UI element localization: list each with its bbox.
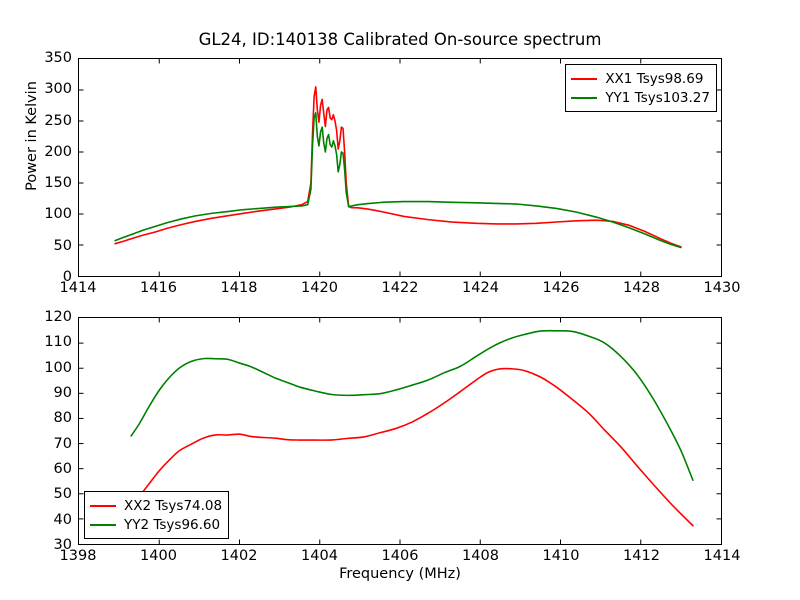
x-tick-label: 1408 bbox=[462, 548, 499, 564]
axis-label-x-bottom: Frequency (MHz) bbox=[0, 566, 800, 582]
legend-item[interactable]: YY1 Tsys103.27 bbox=[571, 88, 710, 107]
x-tick-label: 1402 bbox=[221, 548, 258, 564]
legend-bottom: XX2 Tsys74.08 YY2 Tsys96.60 bbox=[84, 491, 229, 539]
y-tick-label: 350 bbox=[44, 50, 72, 66]
page-title: GL24, ID:140138 Calibrated On-source spe… bbox=[0, 30, 800, 49]
x-tick-label: 1412 bbox=[623, 548, 660, 564]
x-tick-label: 1400 bbox=[140, 548, 177, 564]
x-tick-label: 1406 bbox=[382, 548, 419, 564]
x-tick-label: 1424 bbox=[462, 280, 499, 296]
y-tick-label: 150 bbox=[44, 175, 72, 191]
y-tick-label: 50 bbox=[54, 238, 72, 254]
series-line bbox=[131, 331, 693, 480]
y-tick-label: 300 bbox=[44, 81, 72, 97]
legend-color-swatch-yy2 bbox=[90, 524, 116, 526]
y-tick-labels-top: 050100150200250300350 bbox=[4, 58, 72, 277]
y-tick-label: 120 bbox=[44, 309, 72, 325]
legend-label-xx1: XX1 Tsys98.69 bbox=[605, 71, 703, 87]
legend-color-swatch-xx1 bbox=[571, 78, 597, 80]
y-tick-label: 40 bbox=[54, 512, 72, 528]
y-tick-label: 90 bbox=[54, 385, 72, 401]
matplotlib-figure: GL24, ID:140138 Calibrated On-source spe… bbox=[0, 0, 800, 600]
legend-label-yy1: YY1 Tsys103.27 bbox=[605, 90, 710, 106]
y-tick-labels-bottom: 30405060708090100110120 bbox=[4, 317, 72, 545]
legend-label-yy2: YY2 Tsys96.60 bbox=[124, 517, 220, 533]
legend-item[interactable]: YY2 Tsys96.60 bbox=[90, 515, 222, 534]
x-tick-label: 1398 bbox=[60, 548, 97, 564]
y-tick-label: 100 bbox=[44, 206, 72, 222]
x-tick-label: 1416 bbox=[140, 280, 177, 296]
legend-item[interactable]: XX2 Tsys74.08 bbox=[90, 496, 222, 515]
series-line bbox=[115, 113, 681, 248]
x-tick-label: 1420 bbox=[301, 280, 338, 296]
y-tick-label: 50 bbox=[54, 486, 72, 502]
x-tick-label: 1422 bbox=[382, 280, 419, 296]
legend-color-swatch-yy1 bbox=[571, 97, 597, 99]
y-tick-label: 100 bbox=[44, 360, 72, 376]
legend-top: XX1 Tsys98.69 YY1 Tsys103.27 bbox=[565, 64, 717, 112]
x-tick-label: 1414 bbox=[704, 548, 741, 564]
plot-panel-top: XX1 Tsys98.69 YY1 Tsys103.27 bbox=[78, 58, 722, 277]
x-tick-label: 1410 bbox=[543, 548, 580, 564]
x-tick-label: 1430 bbox=[704, 280, 741, 296]
y-tick-label: 250 bbox=[44, 113, 72, 129]
y-tick-label: 110 bbox=[44, 334, 72, 350]
plot-panel-bottom: XX2 Tsys74.08 YY2 Tsys96.60 bbox=[78, 317, 722, 545]
y-tick-label: 60 bbox=[54, 461, 72, 477]
x-tick-labels-bottom: 139814001402140414061408141014121414 bbox=[0, 548, 800, 568]
y-tick-label: 70 bbox=[54, 436, 72, 452]
x-tick-label: 1414 bbox=[60, 280, 97, 296]
x-tick-label: 1404 bbox=[301, 548, 338, 564]
y-tick-label: 80 bbox=[54, 410, 72, 426]
y-tick-label: 200 bbox=[44, 144, 72, 160]
legend-item[interactable]: XX1 Tsys98.69 bbox=[571, 69, 710, 88]
x-tick-labels-top: 141414161418142014221424142614281430 bbox=[0, 280, 800, 300]
x-tick-label: 1426 bbox=[543, 280, 580, 296]
x-tick-label: 1418 bbox=[221, 280, 258, 296]
x-tick-label: 1428 bbox=[623, 280, 660, 296]
legend-label-xx2: XX2 Tsys74.08 bbox=[124, 498, 222, 514]
legend-color-swatch-xx2 bbox=[90, 505, 116, 507]
